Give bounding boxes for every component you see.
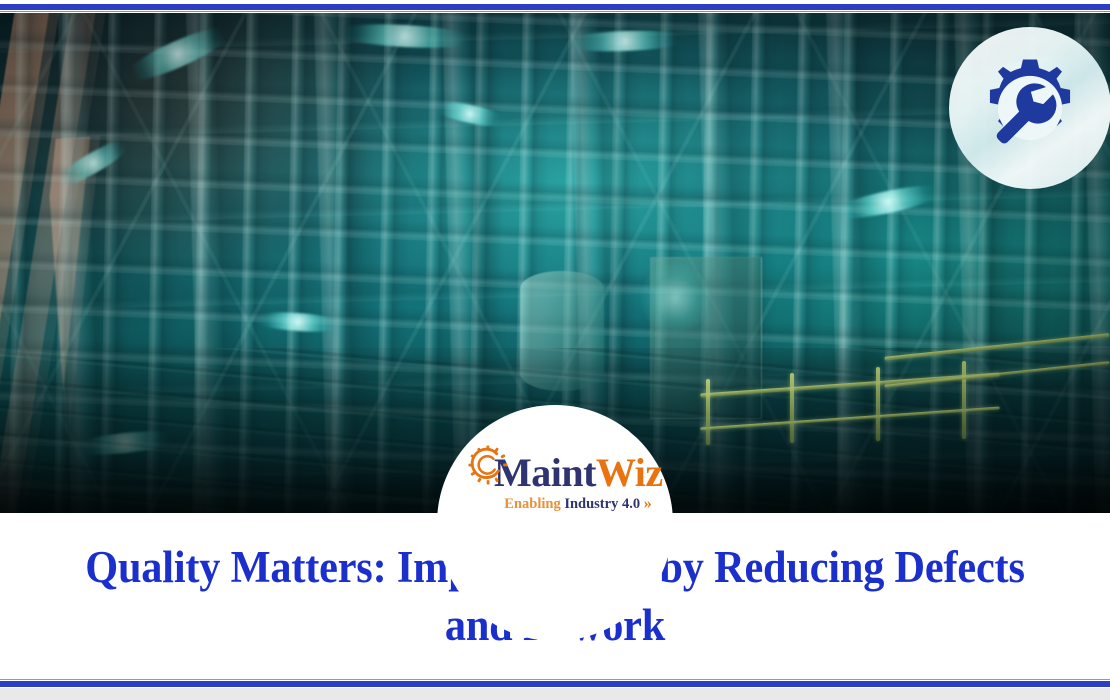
logo-backdrop-circle	[437, 405, 673, 641]
logo-gear-spiral-icon	[468, 445, 508, 485]
logo-tagline-arrow-icon: »	[644, 495, 652, 512]
blog-banner: MaintWiz Enabling Industry 4.0 » Quality…	[0, 0, 1110, 700]
gear-wrench-icon	[967, 45, 1093, 171]
bottom-rule	[0, 681, 1110, 687]
logo-tagline: Enabling Industry 4.0 »	[503, 496, 653, 512]
footer-strip	[0, 688, 1110, 700]
maintwiz-logo[interactable]: MaintWiz Enabling Industry 4.0 »	[466, 443, 646, 517]
top-rule	[0, 4, 1110, 10]
logo-word-wiz: Wiz	[596, 450, 663, 495]
top-rule-hairline	[0, 11, 1110, 12]
logo-wordmark: MaintWiz	[494, 453, 663, 493]
logo-word-maint: Maint	[494, 450, 596, 495]
logo-tagline-industry: Industry 4.0	[564, 496, 640, 512]
logo-tagline-enabling: Enabling	[504, 496, 560, 512]
bottom-rule-hairline	[0, 679, 1110, 680]
gear-wrench-badge	[949, 27, 1110, 189]
